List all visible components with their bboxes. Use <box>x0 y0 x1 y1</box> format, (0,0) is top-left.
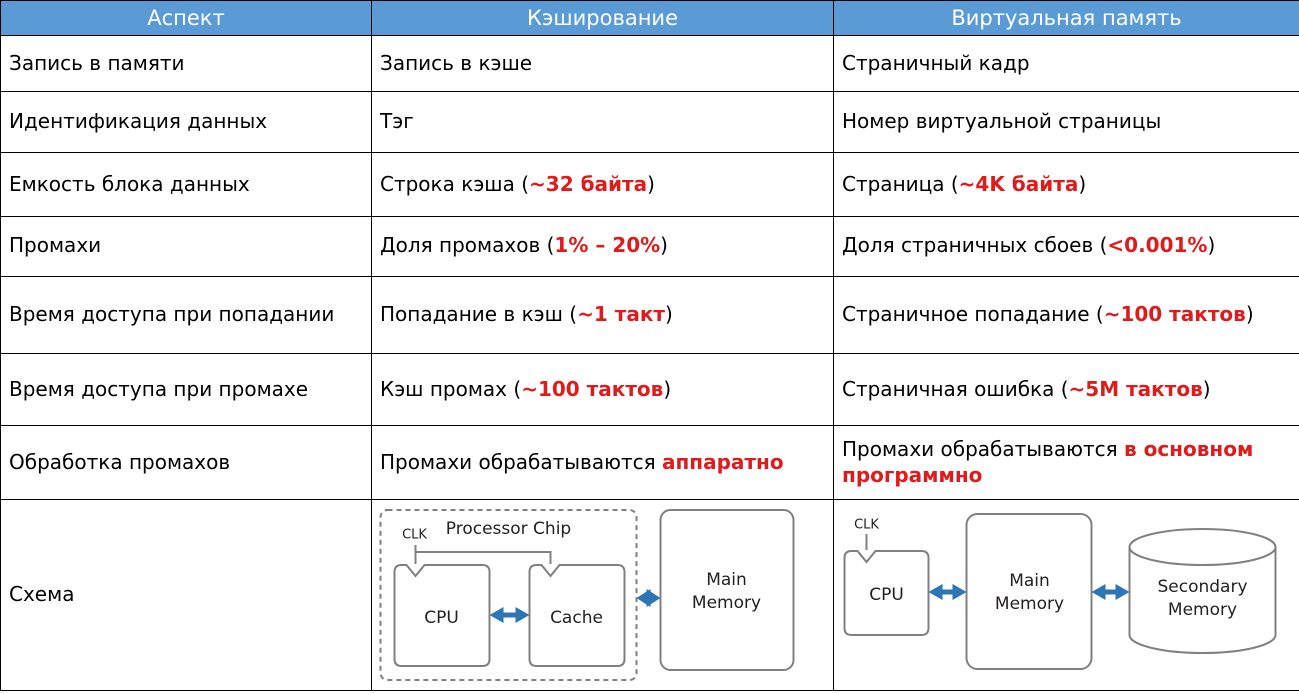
text-highlight: аппаратно <box>662 450 784 474</box>
row-label-hit-access-time: Время доступа при попадании <box>1 276 372 354</box>
text-highlight: ~1 такт <box>577 302 665 326</box>
header-row: Аспект Кэширование Виртуальная память <box>1 1 1299 36</box>
main-secondary-arrow <box>1092 584 1130 600</box>
cell-caching-misses: Доля промахов (1% – 20%) <box>372 216 834 276</box>
cell-caching-hit-access-time: Попадание в кэш (~1 такт) <box>372 276 834 354</box>
clk-label: CLK <box>854 517 879 532</box>
cell-caching-block-capacity: Строка кэша (~32 байта) <box>372 153 834 217</box>
main-memory-label-line2: Memory <box>692 593 761 613</box>
clk-label: CLK <box>402 527 427 542</box>
cell-virtual-miss-access-time: Страничная ошибка (~5M тактов) <box>834 354 1299 426</box>
row-label-memory-record: Запись в памяти <box>1 36 372 92</box>
table-row: Обработка промахов Промахи обрабатываютс… <box>1 426 1299 500</box>
table-body: Запись в памяти Запись в кэше Страничный… <box>1 36 1299 691</box>
cache-vs-virtual-memory-table: Аспект Кэширование Виртуальная память За… <box>0 0 1299 691</box>
text-suffix: ) <box>1246 302 1254 326</box>
text-prefix: Промахи обрабатываются <box>842 437 1124 461</box>
cell-caching-memory-record: Запись в кэше <box>372 36 834 92</box>
column-header-caching: Кэширование <box>372 1 834 36</box>
cell-caching-miss-handling: Промахи обрабатываются аппаратно <box>372 426 834 500</box>
text-prefix: Тэг <box>380 109 414 133</box>
cpu-cache-arrow <box>490 607 530 623</box>
cell-virtual-misses: Доля страничных сбоев (<0.001%) <box>834 216 1299 276</box>
row-label-scheme: Схема <box>1 499 372 690</box>
text-highlight: 1% – 20% <box>554 233 660 257</box>
chip-memory-arrow <box>637 589 661 607</box>
row-label-data-identification: Идентификация данных <box>1 91 372 153</box>
text-prefix: Доля промахов ( <box>380 233 554 257</box>
table-row: Промахи Доля промахов (1% – 20%) Доля ст… <box>1 216 1299 276</box>
text-prefix: Доля страничных сбоев ( <box>842 233 1107 257</box>
row-label-block-capacity: Емкость блока данных <box>1 153 372 217</box>
cell-virtual-block-capacity: Страница (~4K байта) <box>834 153 1299 217</box>
text-highlight: ~4K байта <box>959 172 1079 196</box>
column-header-virtual-memory: Виртуальная память <box>834 1 1299 36</box>
cpu-label: CPU <box>424 608 459 628</box>
text-prefix: Попадание в кэш ( <box>380 302 577 326</box>
cpu-main-memory-arrow <box>929 584 967 600</box>
cell-virtual-miss-handling: Промахи обрабатываются в основном програ… <box>834 426 1299 500</box>
text-highlight: <0.001% <box>1107 233 1207 257</box>
cache-label: Cache <box>550 608 603 628</box>
processor-chip-label: Processor Chip <box>446 519 571 539</box>
text-suffix: ) <box>660 233 668 257</box>
main-memory-label-line2: Memory <box>995 594 1064 614</box>
text-prefix: Страничное попадание ( <box>842 302 1104 326</box>
text-prefix: Кэш промах ( <box>380 377 521 401</box>
text-prefix: Строка кэша ( <box>380 172 529 196</box>
text-suffix: ) <box>663 377 671 401</box>
cache-architecture-diagram: Processor Chip CLK CPU Cache <box>372 502 833 688</box>
row-label-miss-access-time: Время доступа при промахе <box>1 354 372 426</box>
text-suffix: ) <box>1207 233 1215 257</box>
text-highlight: ~100 тактов <box>521 377 663 401</box>
cell-caching-miss-access-time: Кэш промах (~100 тактов) <box>372 354 834 426</box>
main-memory-label-line1: Main <box>1009 571 1050 591</box>
cell-virtual-memory-diagram: CLK CPU Main <box>834 499 1299 690</box>
main-memory-box <box>661 510 794 670</box>
text-highlight: ~32 байта <box>529 172 647 196</box>
cell-virtual-hit-access-time: Страничное попадание (~100 тактов) <box>834 276 1299 354</box>
row-label-misses: Промахи <box>1 216 372 276</box>
text-highlight: ~5M тактов <box>1069 377 1203 401</box>
text-highlight: ~100 тактов <box>1104 302 1246 326</box>
table-row: Емкость блока данных Строка кэша (~32 ба… <box>1 153 1299 217</box>
column-header-aspect: Аспект <box>1 1 372 36</box>
clock-line <box>416 545 551 564</box>
text-prefix: Страничная ошибка ( <box>842 377 1069 401</box>
row-label-miss-handling: Обработка промахов <box>1 426 372 500</box>
text-prefix: Промахи обрабатываются <box>380 450 662 474</box>
secondary-memory-label-line2: Memory <box>1168 600 1237 620</box>
text-suffix: ) <box>1078 172 1086 196</box>
text-prefix: Страница ( <box>842 172 959 196</box>
table-header: Аспект Кэширование Виртуальная память <box>1 1 1299 36</box>
main-memory-box <box>967 514 1092 669</box>
main-memory-label-line1: Main <box>706 570 747 590</box>
text-prefix: Страничный кадр <box>842 51 1030 75</box>
table-row: Запись в памяти Запись в кэше Страничный… <box>1 36 1299 92</box>
table-row: Идентификация данных Тэг Номер виртуальн… <box>1 91 1299 153</box>
table-row: Время доступа при попадании Попадание в … <box>1 276 1299 354</box>
table-row: Схема Processor Chip CLK CPU <box>1 499 1299 690</box>
cpu-label: CPU <box>869 585 904 605</box>
cell-virtual-memory-record: Страничный кадр <box>834 36 1299 92</box>
text-suffix: ) <box>665 302 673 326</box>
virtual-memory-architecture-diagram: CLK CPU Main <box>834 502 1299 688</box>
table-row: Время доступа при промахе Кэш промах (~1… <box>1 354 1299 426</box>
cell-caching-data-identification: Тэг <box>372 91 834 153</box>
text-prefix: Запись в кэше <box>380 51 532 75</box>
text-suffix: ) <box>647 172 655 196</box>
comparison-table-container: Аспект Кэширование Виртуальная память За… <box>0 0 1299 694</box>
cell-caching-diagram: Processor Chip CLK CPU Cache <box>372 499 834 690</box>
text-prefix: Номер виртуальной страницы <box>842 109 1161 133</box>
cell-virtual-data-identification: Номер виртуальной страницы <box>834 91 1299 153</box>
text-suffix: ) <box>1203 377 1211 401</box>
secondary-memory-label-line1: Secondary <box>1157 577 1247 597</box>
